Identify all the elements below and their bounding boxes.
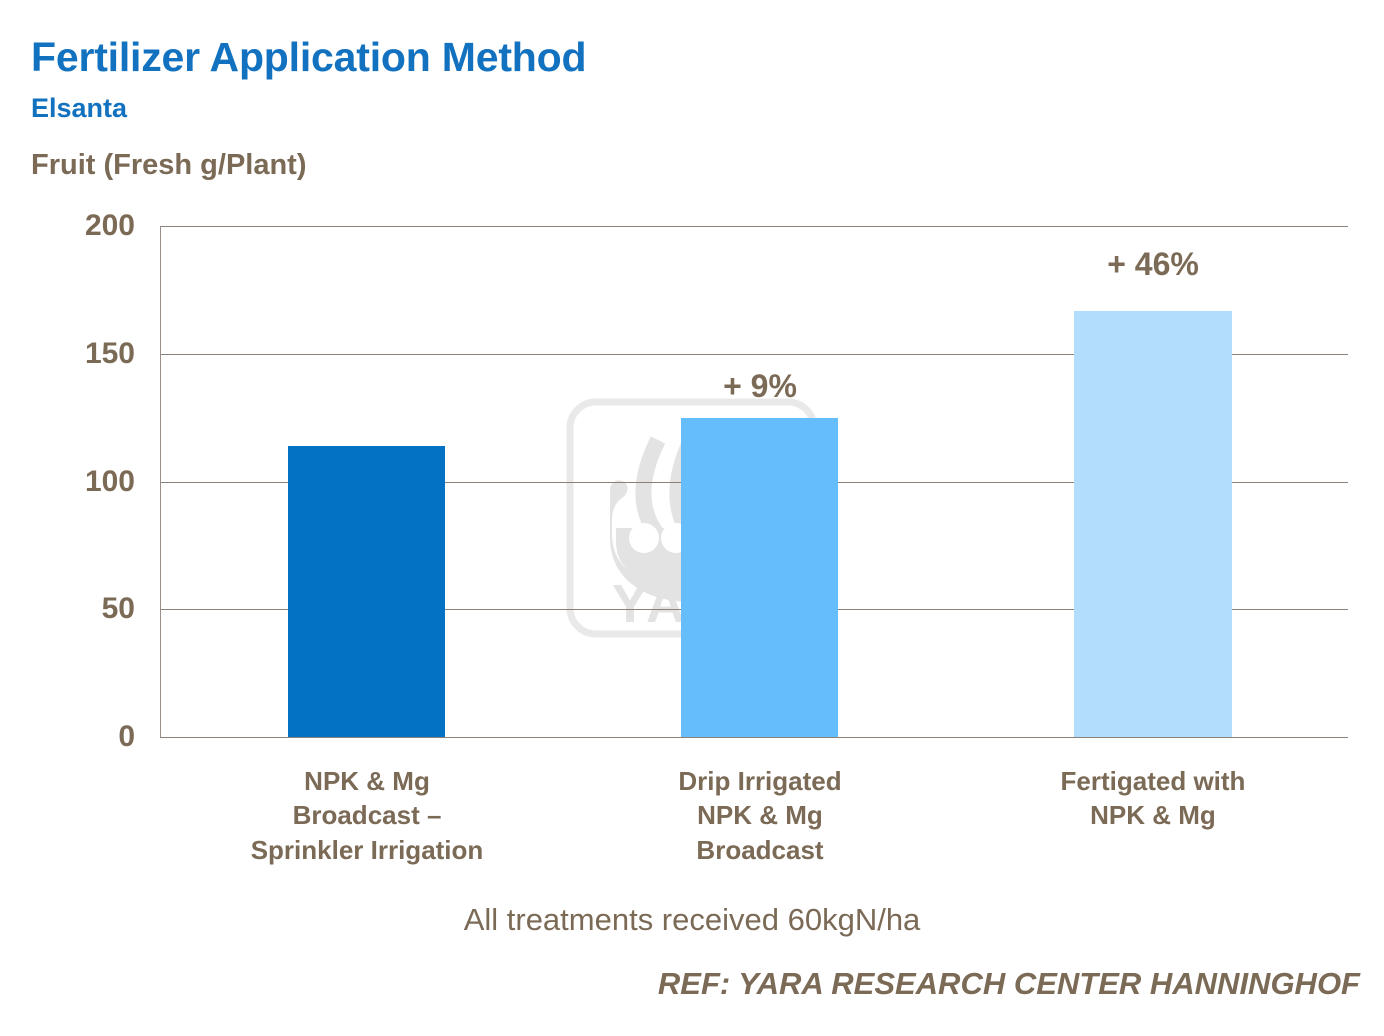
page-subtitle: Elsanta xyxy=(31,93,127,124)
y-tick-label-0: 0 xyxy=(15,722,135,752)
bar-annotation-drip-irrigated: + 9% xyxy=(723,368,797,405)
treatment-note: All treatments received 60kgN/ha xyxy=(0,902,1384,938)
y-axis-unit-label: Fruit (Fresh g/Plant) xyxy=(31,149,307,182)
page-title: Fertilizer Application Method xyxy=(31,34,586,81)
category-label-2: Drip Irrigated NPK & Mg Broadcast xyxy=(678,764,841,867)
category-label-3: Fertigated with NPK & Mg xyxy=(1061,764,1246,833)
y-tick-label-50: 50 xyxy=(15,594,135,624)
bar-annotation-fertigated: + 46% xyxy=(1107,246,1199,283)
y-tick-label-150: 150 xyxy=(15,339,135,369)
x-axis-baseline xyxy=(160,737,1348,738)
gridline-200 xyxy=(160,226,1348,227)
category-label-1: NPK & Mg Broadcast – Sprinkler Irrigatio… xyxy=(251,764,484,867)
bar-drip-irrigated-npk-mg-broadcast[interactable] xyxy=(681,418,838,737)
y-axis-line xyxy=(160,226,161,737)
y-tick-label-200: 200 xyxy=(15,211,135,241)
slide-canvas: Fertilizer Application Method Elsanta Fr… xyxy=(0,0,1384,1036)
reference-note: REF: YARA RESEARCH CENTER HANNINGHOF xyxy=(658,966,1360,1002)
bar-npk-mg-broadcast-sprinkler[interactable] xyxy=(288,446,445,737)
bar-fertigated-with-npk-mg[interactable] xyxy=(1074,311,1232,737)
plot-area xyxy=(160,226,1348,737)
y-tick-label-100: 100 xyxy=(15,467,135,497)
